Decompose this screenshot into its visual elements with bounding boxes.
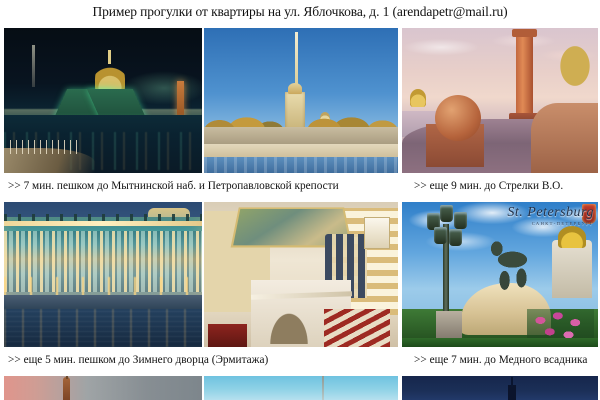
red-carpet-right xyxy=(324,309,390,347)
city-crest-icon xyxy=(582,204,596,224)
photo-3-rostral-column-painting xyxy=(402,28,598,173)
caption-row2-right: >> еще 7 мин. до Медного всадника xyxy=(414,351,587,369)
photo-6-image: St. Petersburg САНКТ-ПЕТЕРБУРГ xyxy=(402,202,598,347)
night-spire-silhouette xyxy=(508,385,516,400)
photo-5-image xyxy=(204,202,398,347)
rostral-column xyxy=(516,35,533,115)
photo-row-3 xyxy=(4,376,598,400)
lantern-5 xyxy=(449,229,462,246)
caption-row-1: >> 7 мин. пешком до Мытнинской наб. и Пе… xyxy=(4,173,600,202)
caption-row2-left: >> еще 5 мин. пешком до Зимнего дворца (… xyxy=(8,351,268,369)
photo-1-image xyxy=(4,28,202,173)
distant-dome xyxy=(410,89,426,107)
photo-5-jordan-staircase xyxy=(204,202,398,347)
st-isaacs-cathedral xyxy=(552,240,592,298)
painted-parapet xyxy=(531,103,598,173)
walking-route-page: Пример прогулки от квартиры на ул. Яблоч… xyxy=(0,0,600,400)
photo-8-blue-sky xyxy=(204,376,398,400)
tower-silhouette xyxy=(63,377,70,400)
painted-tree xyxy=(558,43,592,89)
canal-water xyxy=(4,309,202,347)
red-carpet-left xyxy=(208,324,247,347)
photo-4-image xyxy=(4,202,202,347)
lantern-3 xyxy=(454,212,467,229)
lantern-4 xyxy=(434,227,447,244)
embankment xyxy=(4,295,202,310)
shore-fence xyxy=(10,140,81,154)
facade-cornice xyxy=(4,221,202,226)
photo-7-image xyxy=(4,376,202,400)
photo-row-2: St. Petersburg САНКТ-ПЕТЕРБУРГ xyxy=(4,202,598,347)
photo-row-1 xyxy=(4,28,598,173)
photo-8-image xyxy=(204,376,398,400)
photo-1-palace-bridge xyxy=(4,28,202,173)
lantern-2 xyxy=(440,205,453,222)
photo-4-winter-palace xyxy=(4,202,202,347)
stone-sphere xyxy=(435,95,481,141)
hall-window xyxy=(364,217,390,249)
photo-3-image xyxy=(402,28,598,173)
staircase-arch xyxy=(268,310,310,344)
mast-detail xyxy=(32,45,35,87)
lamppost-base xyxy=(436,311,462,341)
caption-row1-left: >> 7 мин. пешком до Мытнинской наб. и Пе… xyxy=(8,177,339,195)
ornate-lamppost xyxy=(426,205,493,344)
page-title: Пример прогулки от квартиры на ул. Яблоч… xyxy=(0,2,600,22)
photo-6-bronze-horseman: St. Petersburg САНКТ-ПЕТЕРБУРГ xyxy=(402,202,598,347)
photo-2-image xyxy=(204,28,398,173)
photo-7-tower-sky xyxy=(4,376,202,400)
caption-row1-right: >> еще 9 мин. до Стрелки В.О. xyxy=(414,177,563,195)
caption-row-2: >> еще 5 мин. пешком до Зимнего дворца (… xyxy=(4,347,600,376)
pole-detail xyxy=(322,376,324,400)
photo-2-peter-paul-fortress xyxy=(204,28,398,173)
photo-grid: >> 7 мин. пешком до Мытнинской наб. и Пе… xyxy=(4,28,598,400)
grass-strip xyxy=(402,338,598,347)
photo-9-image xyxy=(402,376,598,400)
photo-9-night-spire xyxy=(402,376,598,400)
neva-water-day xyxy=(204,157,398,173)
fortress-beach xyxy=(204,144,398,157)
